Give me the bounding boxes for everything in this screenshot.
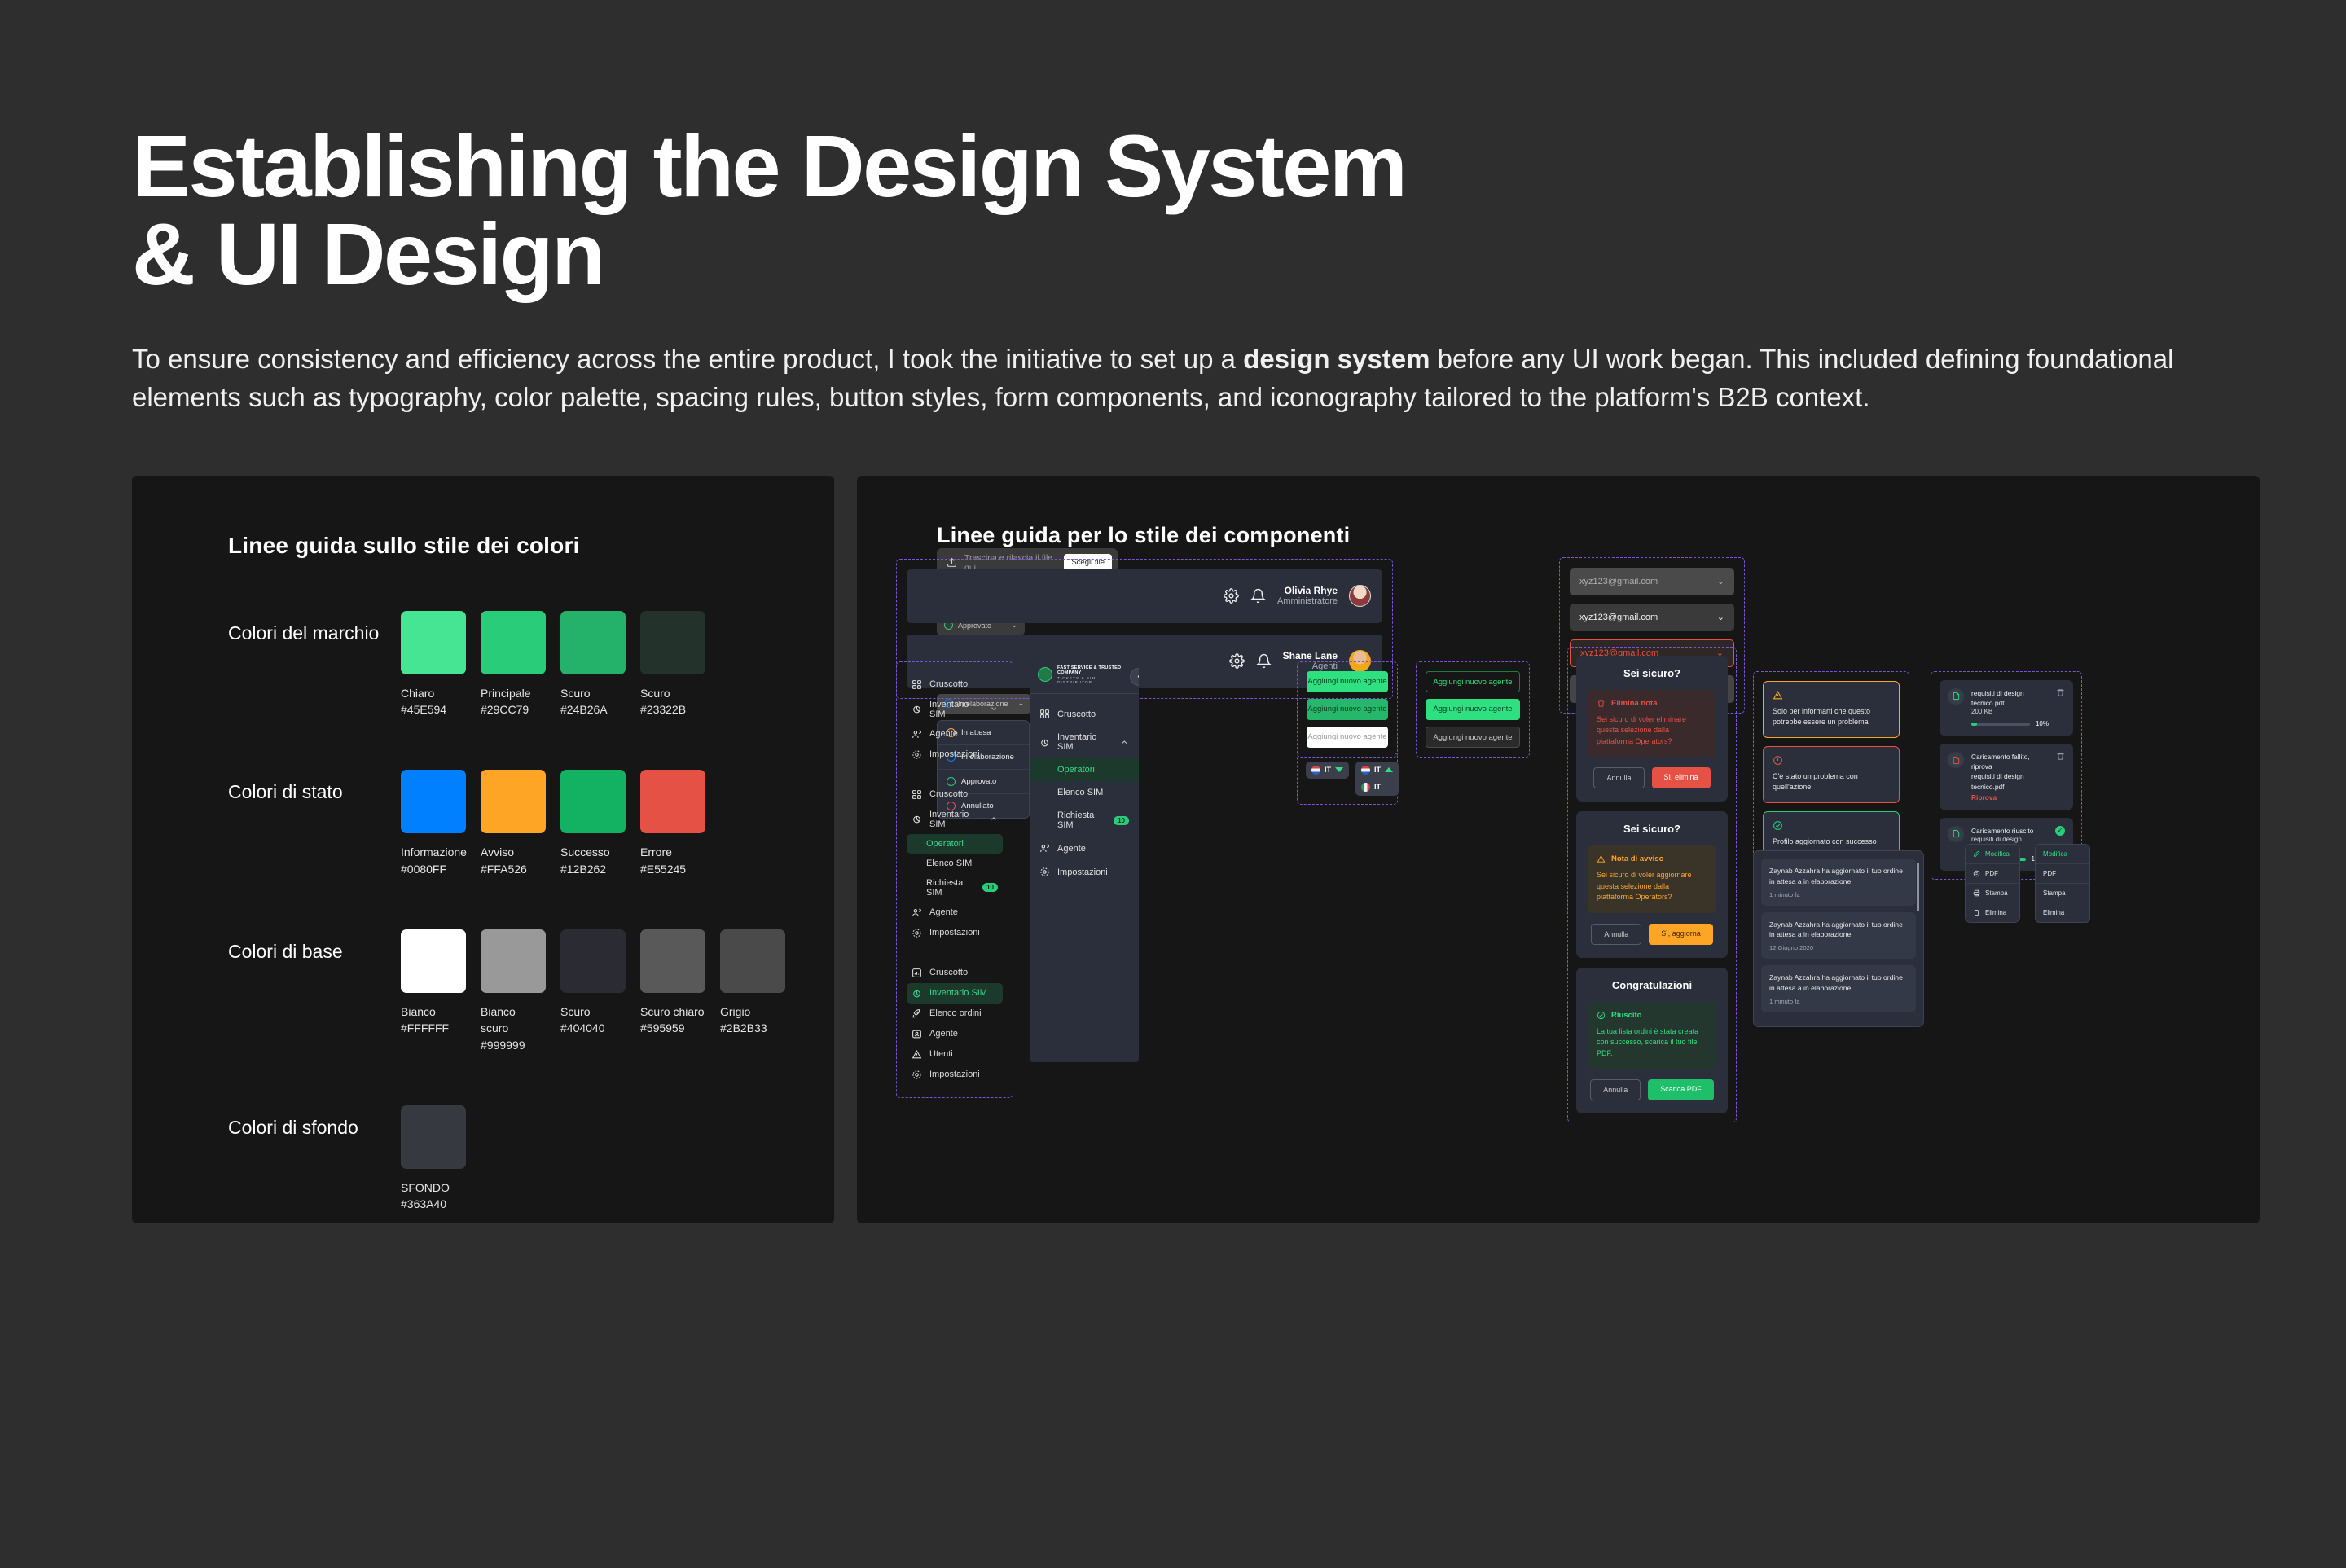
swatch-name: Chiaro (401, 685, 466, 701)
status-badge: 10 (1114, 816, 1129, 825)
swatch-hex: #404040 (560, 1020, 626, 1036)
success-modal: Congratulazioni Riuscito La tua lista or… (1576, 968, 1728, 1114)
swatch-name: Bianco (401, 1004, 466, 1020)
sim-icon (912, 988, 922, 999)
swatch-chip (720, 929, 785, 993)
avatar[interactable] (1349, 585, 1371, 607)
sidebar-item-label: Impostazioni (929, 928, 980, 938)
bell-icon[interactable] (1250, 588, 1266, 604)
note-title: Riuscito (1611, 1011, 1641, 1020)
sidebar-item-label: Cruscotto (929, 789, 968, 799)
retry-link[interactable]: Riprova (1971, 793, 2049, 802)
confirm-delete-modal: Sei sicuro? Elimina nota Sei sicuro di v… (1576, 656, 1728, 802)
sidebar-item-label: Impostazioni (929, 749, 980, 759)
context-menu-item-elimina[interactable]: Elimina (1966, 903, 2019, 922)
page-intro-paragraph: To ensure consistency and efficiency acr… (132, 340, 2193, 417)
file-card-body: Caricamento fallito, riprova requisiti d… (1971, 752, 2049, 802)
progress-row: 10% (1971, 720, 2049, 727)
alert-error: C'è stato un problema con quell'azione (1763, 746, 1900, 803)
component-guidelines-panel: Linee guida per lo stile dei componenti … (857, 476, 2260, 1223)
swatch-name: SFONDO (401, 1179, 466, 1196)
color-group-base: Colori di base Bianco #FFFFFF Bianco scu… (228, 929, 834, 1053)
swatch-name: Successo (560, 844, 626, 860)
color-group-background: Colori di sfondo SFONDO #363A40 (228, 1105, 834, 1213)
alert-text: Profilo aggiornato con successo (1773, 837, 1890, 848)
sidebar-item-label: Inventario SIM (929, 810, 982, 829)
context-menu-item-elimina[interactable]: Elimina (2036, 903, 2089, 922)
sidebar-item-elenco-ordini[interactable]: Elenco ordini (907, 1004, 1003, 1024)
chevron-down-icon: ⌄ (1717, 576, 1724, 586)
swatch-chip (401, 611, 466, 674)
sidebar-item-label: Richiesta SIM (926, 878, 970, 898)
sidebar-item-label: Agente (929, 907, 958, 917)
bell-icon[interactable] (1256, 653, 1272, 669)
alert-text: Solo per informarti che questo potrebbe … (1773, 706, 1890, 728)
chevron-down-icon (1335, 767, 1343, 772)
file-status: Caricamento fallito, riprova (1971, 752, 2049, 771)
sidebar-item-inventario-sim[interactable]: Inventario SIM (1030, 726, 1139, 758)
context-menu-group: Modifica PDF Stampa Elimina (1965, 844, 2090, 923)
color-group-brand: Colori del marchio Chiaro #45E594 Princi… (228, 611, 834, 718)
alert-triangle-icon (1773, 690, 1890, 701)
context-menu-item-stampa[interactable]: Stampa (2036, 884, 2089, 903)
notification-item[interactable]: Zaynab Azzahra ha aggiornato il tuo ordi… (1761, 965, 1916, 1012)
sidebar-item-label: Inventario SIM (1057, 732, 1113, 752)
sidebar-item-richiesta-sim[interactable]: Richiesta SIM 10 (1030, 804, 1139, 837)
sidebar-item-cruscotto[interactable]: Cruscotto (907, 963, 1003, 983)
language-label: IT (1374, 766, 1381, 774)
nav-section-alt: Cruscotto Inventario SIM Elenco ordini A… (907, 963, 1003, 1085)
sidebar-item-label: Cruscotto (929, 968, 968, 977)
grid-icon (1039, 709, 1050, 719)
language-label: IT (1374, 783, 1381, 791)
trash-icon[interactable] (2056, 688, 2065, 727)
swatch-name: Errore (640, 844, 705, 860)
chevron-down-icon[interactable] (990, 705, 998, 714)
sim-icon (912, 814, 922, 824)
modal-actions: Annulla Sì, aggiorna (1588, 924, 1716, 945)
context-menu-text-only: Modifica PDF Stampa Elimina (2035, 844, 2090, 923)
file-icon (1948, 826, 1964, 842)
context-menu-item-modifica[interactable]: Modifica (1966, 845, 2019, 864)
chevron-down-icon: ⌄ (1017, 699, 1024, 708)
context-menu-item-pdf[interactable]: PDF (2036, 864, 2089, 884)
chevron-up-icon[interactable] (990, 815, 998, 824)
brand-logo: FAST SERVICE & TRUSTED COMPANY TICKETS &… (1030, 657, 1139, 694)
sidebar-item-label: Agente (1057, 844, 1086, 854)
cancel-button[interactable]: Annulla (1591, 924, 1641, 945)
user-role: Amministratore (1277, 596, 1338, 607)
sidebar-item-inventario-sim[interactable]: Inventario SIM (907, 695, 1003, 724)
sidebar-item-label: Inventario SIM (929, 988, 987, 998)
swatch: Informazione #0080FF (401, 770, 466, 877)
sidebar-item-agente[interactable]: Agente (1030, 837, 1139, 860)
swatch-hex: #2B2B33 (720, 1020, 785, 1036)
alert-text: C'è stato un problema con quell'azione (1773, 771, 1890, 793)
flag-us-icon (1361, 766, 1370, 775)
alert-triangle-icon (1597, 854, 1606, 863)
context-menu-label: Modifica (1985, 850, 2010, 858)
progress-bar (1971, 723, 2030, 726)
user-name: Shane Lane (1283, 650, 1338, 661)
swatch: Successo #12B262 (560, 770, 626, 877)
notification-item[interactable]: Zaynab Azzahra ha aggiornato il tuo ordi… (1761, 859, 1916, 906)
gear-icon (1039, 867, 1050, 877)
file-status: Caricamento riuscito (1971, 826, 2048, 836)
page-root: Establishing the Design System & UI Desi… (0, 0, 2346, 1568)
hero-section: Establishing the Design System & UI Desi… (0, 0, 2346, 417)
sidebar-item-label: Inventario SIM (929, 700, 982, 719)
user-info[interactable]: Olivia Rhye Amministratore (1277, 585, 1338, 607)
note-title: Elimina nota (1611, 699, 1657, 708)
swatch-name: Scuro (640, 685, 705, 701)
swatch-name: Scuro (560, 685, 626, 701)
logo-text: FAST SERVICE & TRUSTED COMPANY TICKETS &… (1057, 665, 1131, 684)
color-guidelines-panel: Linee guida sullo stile dei colori Color… (132, 476, 834, 1223)
scrollbar[interactable] (1917, 863, 1919, 911)
sidebar-item-inventario-sim[interactable]: Inventario SIM (907, 805, 1003, 834)
notification-time: 1 minuto fa (1769, 891, 1908, 898)
color-group-label: Colori di sfondo (228, 1105, 401, 1139)
swatch-chip (481, 770, 546, 833)
trash-icon (1973, 909, 1980, 916)
sidebar-item-cruscotto[interactable]: Cruscotto (1030, 702, 1139, 726)
trash-icon[interactable] (2056, 752, 2065, 802)
notification-time: 1 minuto fa (1769, 998, 1908, 1005)
modal-actions: Annulla Sì, elimina (1588, 767, 1716, 788)
file-upload-card-failed: Caricamento fallito, riprova requisiti d… (1940, 744, 2073, 810)
swatch-chip (560, 929, 626, 993)
sidebar-item-impostazioni[interactable]: Impostazioni (1030, 860, 1139, 884)
swatch-hex: #FFFFFF (401, 1020, 466, 1036)
note-body: Sei sicuro di voler aggiornare questa se… (1597, 870, 1707, 903)
swatch-hex: #23322B (640, 701, 705, 718)
context-menu-label: PDF (1985, 870, 1998, 877)
sidebar-item-label: Operatori (1057, 765, 1095, 775)
nav-section-collapsed: Cruscotto Inventario SIM Agente Impostaz… (907, 674, 1003, 765)
notification-item[interactable]: Zaynab Azzahra ha aggiornato il tuo ordi… (1761, 912, 1916, 960)
color-group-label: Colori di stato (228, 770, 401, 803)
swatch-hex: #E55245 (640, 861, 705, 877)
notification-text: Zaynab Azzahra ha aggiornato il tuo ordi… (1769, 973, 1908, 994)
alert-circle-icon (1773, 755, 1890, 766)
swatch-hex: #24B26A (560, 701, 626, 718)
swatch-name: Informazione (401, 844, 466, 860)
context-menu-label: Modifica (2043, 850, 2067, 858)
sidebar-item-agente[interactable]: Agente (907, 724, 1003, 744)
swatch-chip (560, 611, 626, 674)
modal-title: Sei sicuro? (1588, 667, 1716, 679)
sidebar-item-label: Utenti (929, 1049, 953, 1059)
language-option-selected[interactable]: IT (1355, 762, 1399, 779)
note-body: La tua lista ordini è stata creata con s… (1597, 1026, 1707, 1060)
swatch: Errore #E55245 (640, 770, 705, 877)
sidebar-item-impostazioni[interactable]: Impostazioni (907, 744, 1003, 765)
logo-line-1: FAST SERVICE & TRUSTED COMPANY (1057, 665, 1131, 676)
context-menu-with-icons: Modifica PDF Stampa Elimina (1965, 844, 2020, 923)
chart-icon (912, 968, 922, 978)
alert-warning: Solo per informarti che questo potrebbe … (1763, 681, 1900, 738)
swatch-row: Bianco #FFFFFF Bianco scuro #999999 Scur… (401, 929, 785, 1053)
logo-mark-icon (1038, 667, 1052, 682)
sidebar-item-inventario-sim[interactable]: Inventario SIM (907, 983, 1003, 1004)
swatch-hex: #FFA526 (481, 861, 546, 877)
swatch: Scuro chiaro #595959 (640, 929, 705, 1053)
color-group-label: Colori del marchio (228, 611, 401, 644)
check-circle-icon (1597, 1011, 1606, 1020)
notification-time: 12 Giugno 2020 (1769, 944, 1908, 951)
gear-icon[interactable] (1224, 588, 1239, 604)
swatch: Bianco scuro #999999 (481, 929, 546, 1053)
add-agent-button-outline[interactable]: Aggiungi nuovo agente (1426, 671, 1520, 692)
confirm-update-modal: Sei sicuro? Nota di avviso Sei sicuro di… (1576, 811, 1728, 958)
page-title-line-1: Establishing the Design System (132, 116, 1405, 215)
select-value: xyz123@gmail.com (1579, 613, 1658, 622)
swatch: Scuro #24B26A (560, 611, 626, 718)
swatch: Avviso #FFA526 (481, 770, 546, 877)
language-selector-spec: IT IT IT (1297, 753, 1398, 805)
select-filled[interactable]: xyz123@gmail.com ⌄ (1570, 604, 1734, 631)
button-spec-filled: Aggiungi nuovo agente Aggiungi nuovo age… (1297, 661, 1398, 758)
context-menu-item-pdf[interactable]: PDF (1966, 864, 2019, 884)
swatch: Bianco #FFFFFF (401, 929, 466, 1053)
sidebar-item-operatori[interactable]: Operatori (1030, 758, 1139, 781)
component-panel-title: Linee guida per lo stile dei componenti (937, 523, 2260, 548)
select-value: xyz123@gmail.com (1579, 577, 1658, 586)
pencil-icon (1973, 850, 1980, 858)
file-name: requisiti di design tecnico.pdf (1971, 771, 2049, 791)
swatch-chip (640, 770, 705, 833)
add-agent-button-ghost[interactable]: Aggiungi nuovo agente (1426, 727, 1520, 748)
alert-spec-group: Solo per informarti che questo potrebbe … (1753, 671, 1909, 867)
sidebar-item-label: Elenco SIM (1057, 788, 1103, 797)
grid-icon (912, 679, 922, 690)
file-card-body: requisiti di design tecnico.pdf 200 KB 1… (1971, 688, 2049, 727)
language-selector-closed[interactable]: IT (1306, 762, 1349, 779)
sidebar-mock: FAST SERVICE & TRUSTED COMPANY TICKETS &… (1030, 657, 1139, 1062)
swatch: SFONDO #363A40 (401, 1105, 466, 1213)
sidebar-item-agente[interactable]: Agente (907, 903, 1003, 923)
gear-icon (912, 928, 922, 938)
progress-percent: 10% (2036, 720, 2049, 727)
pdf-icon (1973, 870, 1980, 877)
status-badge: 10 (982, 883, 998, 892)
check-circle-icon (1773, 820, 1890, 831)
sidebar-item-agente[interactable]: Agente (907, 1024, 1003, 1044)
sidebar-item-operatori[interactable]: Operatori (907, 834, 1003, 854)
nav-section-expanded: Cruscotto Inventario SIM Operatori Elenc… (907, 784, 1003, 943)
cancel-button[interactable]: Annulla (1590, 1079, 1641, 1100)
file-name: requisiti di design tecnico.pdf (1971, 688, 2049, 708)
swatch: Chiaro #45E594 (401, 611, 466, 718)
file-upload-card-uploading: requisiti di design tecnico.pdf 200 KB 1… (1940, 680, 2073, 736)
sidebar-item-elenco-sim[interactable]: Elenco SIM (907, 854, 1003, 873)
chevron-up-icon[interactable] (1120, 738, 1129, 747)
add-agent-button-solid[interactable]: Aggiungi nuovo agente (1426, 699, 1520, 720)
notification-text: Zaynab Azzahra ha aggiornato il tuo ordi… (1769, 866, 1908, 887)
add-agent-button-disabled[interactable]: Aggiungi nuovo agente (1307, 727, 1388, 748)
gear-icon (912, 1069, 922, 1080)
color-group-state: Colori di stato Informazione #0080FF Avv… (228, 770, 834, 877)
alert-triangle-icon (912, 1049, 922, 1060)
language-selector-open[interactable]: IT IT (1355, 762, 1399, 796)
flag-us-icon (1311, 766, 1320, 775)
swatch-chip (481, 611, 546, 674)
flag-it-icon (1361, 783, 1370, 792)
file-size: 200 KB (1971, 708, 2049, 715)
confirm-delete-button[interactable]: Sì, elimina (1652, 767, 1711, 788)
sidebar-item-label: Agente (929, 1029, 958, 1039)
swatch-name: Avviso (481, 844, 546, 860)
color-group-label: Colori di base (228, 929, 401, 963)
context-menu-item-modifica[interactable]: Modifica (2036, 845, 2089, 864)
sidebar-item-label: Operatori (926, 839, 964, 849)
swatch-chip (640, 929, 705, 993)
progress-fill (1971, 723, 1977, 726)
chevron-down-icon: ⌄ (1717, 612, 1724, 622)
trash-icon (1597, 699, 1606, 708)
swatch-chip (560, 770, 626, 833)
gear-icon[interactable] (1229, 653, 1245, 669)
swatch-name: Bianco scuro (481, 1004, 546, 1037)
page-title-line-2: & UI Design (132, 204, 604, 303)
sidebar-item-label: Impostazioni (929, 1069, 980, 1079)
note-title: Nota di avviso (1611, 854, 1663, 863)
swatch-chip (401, 929, 466, 993)
sidebar-item-impostazioni[interactable]: Impostazioni (907, 1065, 1003, 1085)
sidebar-nav-spec: Cruscotto Inventario SIM Agente Impostaz… (896, 661, 1013, 1098)
swatch-hex: #999999 (481, 1037, 546, 1053)
file-icon (1948, 752, 1964, 768)
cancel-button[interactable]: Annulla (1593, 767, 1644, 788)
gear-icon (912, 749, 922, 760)
modal-title: Congratulazioni (1588, 979, 1716, 991)
context-menu-item-stampa[interactable]: Stampa (1966, 884, 2019, 903)
context-menu-label: Stampa (2043, 889, 2066, 897)
note-header: Elimina nota (1597, 699, 1707, 708)
context-menu-label: Stampa (1985, 889, 2008, 897)
note-header: Nota di avviso (1597, 854, 1707, 863)
swatch-chip (401, 770, 466, 833)
users-icon (912, 729, 922, 740)
sidebar-item-utenti[interactable]: Utenti (907, 1044, 1003, 1065)
language-option-it[interactable]: IT (1355, 779, 1399, 796)
intro-text-a: To ensure consistency and efficiency acr… (132, 344, 1243, 374)
swatch-hex: #12B262 (560, 861, 626, 877)
user-name: Olivia Rhye (1277, 585, 1338, 596)
add-agent-button-primary[interactable]: Aggiungi nuovo agente (1307, 671, 1388, 692)
modal-note: Nota di avviso Sei sicuro di voler aggio… (1588, 845, 1716, 913)
swatch-name: Principale (481, 685, 546, 701)
note-header: Riuscito (1597, 1011, 1707, 1020)
button-spec-outline: Aggiungi nuovo agente Aggiungi nuovo age… (1416, 661, 1530, 758)
swatch-name: Grigio (720, 1004, 785, 1020)
swatch-name: Scuro (560, 1004, 626, 1020)
select-placeholder[interactable]: xyz123@gmail.com ⌄ (1570, 568, 1734, 595)
grid-icon (912, 789, 922, 800)
swatch-chip (481, 929, 546, 993)
note-body: Sei sicuro di voler eliminare questa sel… (1597, 714, 1707, 748)
confirm-update-button[interactable]: Sì, aggiorna (1649, 924, 1713, 945)
swatch-chip (640, 611, 705, 674)
sidebar-item-cruscotto[interactable]: Cruscotto (907, 784, 1003, 805)
page-title: Establishing the Design System & UI Desi… (132, 122, 2217, 298)
sidebar-item-label: Cruscotto (929, 679, 968, 689)
swatch-row: Chiaro #45E594 Principale #29CC79 Scuro … (401, 611, 705, 718)
app-topbar: Olivia Rhye Amministratore (907, 569, 1382, 623)
language-row: IT IT IT (1306, 762, 1389, 796)
swatch: Grigio #2B2B33 (720, 929, 785, 1053)
swatch-row: Informazione #0080FF Avviso #FFA526 Succ… (401, 770, 705, 877)
swatch-hex: #595959 (640, 1020, 705, 1036)
context-menu-label: Elimina (1985, 909, 2006, 916)
notification-panel: Zaynab Azzahra ha aggiornato il tuo ordi… (1753, 850, 1924, 1027)
modal-note: Riuscito La tua lista ordini è stata cre… (1588, 1002, 1716, 1069)
swatch-hex: #363A40 (401, 1196, 466, 1212)
logo-line-2: TICKETS & SIM DISTRIBUTOR (1057, 676, 1131, 685)
swatch-hex: #29CC79 (481, 701, 546, 718)
sidebar-item-label: Impostazioni (1057, 867, 1108, 877)
context-menu-label: PDF (2043, 870, 2056, 877)
sidebar-mock-list: Cruscotto Inventario SIM Operatori Elenc… (1030, 694, 1139, 892)
sim-icon (912, 704, 922, 714)
swatch: Scuro #404040 (560, 929, 626, 1053)
file-icon (1948, 688, 1964, 705)
sidebar-item-elenco-sim[interactable]: Elenco SIM (1030, 781, 1139, 804)
sidebar-item-label: Agente (929, 729, 958, 739)
sidebar-item-richiesta-sim[interactable]: Richiesta SIM 10 (907, 873, 1003, 903)
sidebar-item-cruscotto[interactable]: Cruscotto (907, 674, 1003, 695)
add-agent-button-hover[interactable]: Aggiungi nuovo agente (1307, 699, 1388, 720)
modal-spec-group: Sei sicuro? Elimina nota Sei sicuro di v… (1567, 647, 1737, 1123)
context-menu-label: Elimina (2043, 909, 2064, 916)
sidebar-item-label: Cruscotto (1057, 709, 1096, 719)
language-label: IT (1325, 766, 1331, 774)
chevron-up-icon (1385, 767, 1393, 772)
swatch-hex: #45E594 (401, 701, 466, 718)
users-icon (912, 907, 922, 918)
modal-title: Sei sicuro? (1588, 823, 1716, 835)
printer-icon (1973, 889, 1980, 897)
sidebar-item-label: Elenco ordini (929, 1008, 982, 1018)
download-pdf-button[interactable]: Scarica PDF (1648, 1079, 1714, 1100)
swatch-hex: #0080FF (401, 861, 466, 877)
person-card-icon (912, 1029, 922, 1039)
modal-note: Elimina nota Sei sicuro di voler elimina… (1588, 690, 1716, 758)
swatch: Principale #29CC79 (481, 611, 546, 718)
intro-text-bold: design system (1243, 344, 1430, 374)
color-panel-title: Linee guida sullo stile dei colori (228, 533, 834, 559)
sim-icon (1039, 737, 1050, 748)
panels-row: Linee guida sullo stile dei colori Color… (0, 417, 2346, 1223)
sidebar-item-label: Elenco SIM (926, 859, 972, 868)
modal-actions: Annulla Scarica PDF (1588, 1079, 1716, 1100)
sidebar-item-label: Richiesta SIM (1057, 810, 1101, 830)
swatch: Scuro #23322B (640, 611, 705, 718)
users-icon (1039, 843, 1050, 854)
swatch-chip (401, 1105, 466, 1169)
notification-text: Zaynab Azzahra ha aggiornato il tuo ordi… (1769, 920, 1908, 941)
check-badge-icon: ✓ (2055, 826, 2065, 836)
sidebar-item-impostazioni[interactable]: Impostazioni (907, 923, 1003, 943)
rocket-icon (912, 1008, 922, 1019)
swatch-name: Scuro chiaro (640, 1004, 705, 1020)
swatch-row: SFONDO #363A40 (401, 1105, 466, 1213)
